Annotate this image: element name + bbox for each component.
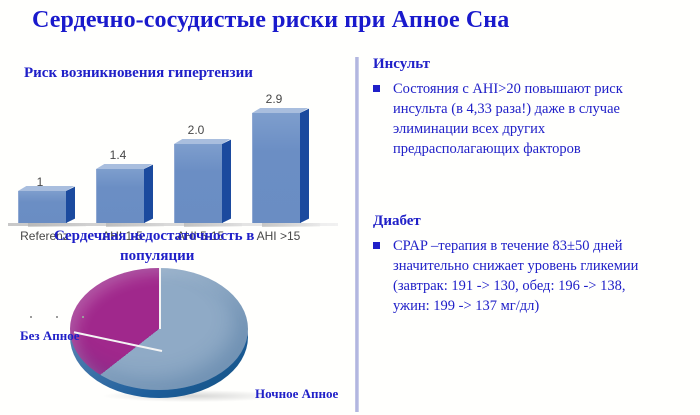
stroke-bullet-item: Состояния с AHI>20 повышают риск инсульт… bbox=[373, 79, 665, 159]
bar-front-face bbox=[18, 191, 67, 223]
bar-chart-title: Риск возникновения гипертензии bbox=[24, 65, 253, 82]
square-bullet-icon bbox=[373, 85, 380, 92]
page-title: Сердечно-сосудистые риски при Апное Сна bbox=[32, 7, 509, 34]
diabetes-bullet-text: CPAP –терапия в течение 83±50 дней значи… bbox=[393, 236, 665, 316]
hypertension-bar-chart: 1 Referenz 1.4 AHI 1-5 2.0 bbox=[0, 86, 352, 211]
stroke-section: Инсульт Состояния с AHI>20 повышают риск… bbox=[368, 56, 665, 159]
bar-front-face bbox=[174, 144, 223, 223]
diabetes-section: Диабет CPAP –терапия в течение 83±50 дне… bbox=[368, 213, 665, 316]
pie-chart-title-line1: Сердечная недостаточность в bbox=[54, 228, 254, 245]
bar-shadow-1 bbox=[106, 223, 164, 227]
bar-shadow-3 bbox=[262, 223, 320, 227]
bar-shadow-0 bbox=[28, 223, 86, 227]
vertical-divider bbox=[355, 57, 359, 412]
bar-column-3 bbox=[252, 113, 300, 223]
bar-column-0 bbox=[18, 191, 66, 223]
bar-front-face bbox=[252, 113, 301, 223]
stroke-bullet-text: Состояния с AHI>20 повышают риск инсульт… bbox=[393, 79, 665, 159]
pie-slice-label-night-apnea: Ночное Апное bbox=[255, 386, 338, 402]
bar-value-2: 2.0 bbox=[166, 123, 226, 137]
bar-top-face bbox=[18, 186, 74, 191]
bar-column-1 bbox=[96, 169, 144, 223]
bar-top-face bbox=[252, 108, 308, 113]
diabetes-section-heading: Диабет bbox=[373, 213, 665, 230]
pie-label-artifact bbox=[30, 316, 86, 319]
pie-slice-separator-top bbox=[159, 268, 161, 329]
bar-side-face bbox=[144, 165, 153, 223]
square-bullet-icon bbox=[373, 242, 380, 249]
bar-value-1: 1.4 bbox=[88, 148, 148, 162]
bar-side-face bbox=[66, 187, 75, 223]
bar-side-face bbox=[222, 140, 231, 223]
pie-slice-label-no-apnea: Без Апное bbox=[20, 328, 79, 344]
bar-top-face bbox=[174, 139, 230, 144]
heart-failure-pie-chart: Без Апное Ночное Апное bbox=[0, 262, 352, 412]
bar-shadow-2 bbox=[184, 223, 242, 227]
stroke-section-heading: Инсульт bbox=[373, 56, 665, 73]
bar-front-face bbox=[96, 169, 145, 223]
bar-side-face bbox=[300, 109, 309, 223]
slide-canvas: Сердечно-сосудистые риски при Апное Сна … bbox=[0, 0, 700, 415]
bar-value-3: 2.9 bbox=[244, 92, 304, 106]
bar-column-2 bbox=[174, 144, 222, 223]
left-column: Риск возникновения гипертензии 1 Referen… bbox=[0, 56, 352, 412]
bar-top-face bbox=[96, 164, 152, 169]
diabetes-bullet-item: CPAP –терапия в течение 83±50 дней значи… bbox=[373, 236, 665, 316]
